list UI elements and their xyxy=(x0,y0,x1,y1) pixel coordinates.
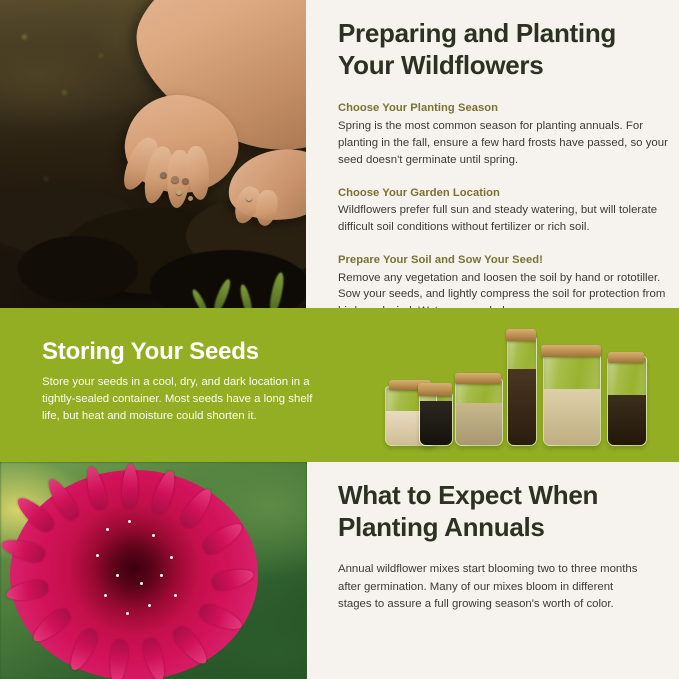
jar-contents xyxy=(544,389,600,445)
cork-stopper xyxy=(541,345,601,357)
body-planting-season: Spring is the most common season for pla… xyxy=(338,118,668,169)
jar-contents xyxy=(508,369,536,445)
what-to-expect-text-column: What to Expect When Planting Annuals Ann… xyxy=(338,462,656,679)
stamen xyxy=(152,534,155,537)
what-to-expect-title: What to Expect When Planting Annuals xyxy=(338,462,656,543)
seed xyxy=(160,172,167,178)
block-garden-location: Choose Your Garden Location Wildflowers … xyxy=(338,186,668,236)
section-preparing-and-planting: Preparing and Planting Your Wildflowers … xyxy=(0,0,679,308)
stamen xyxy=(128,520,131,523)
seed-jars-photo xyxy=(385,320,665,456)
cork-stopper xyxy=(455,373,501,384)
stamen xyxy=(104,594,107,597)
soil-planting-photo xyxy=(0,0,306,308)
stamen xyxy=(174,594,177,597)
stamen xyxy=(116,574,119,577)
stamen xyxy=(148,604,151,607)
subheading-garden-location: Choose Your Garden Location xyxy=(338,186,668,201)
jar-contents xyxy=(608,395,646,445)
stamen xyxy=(140,582,143,585)
preparing-text-column: Preparing and Planting Your Wildflowers … xyxy=(338,0,668,308)
seed xyxy=(171,176,179,183)
cork-stopper xyxy=(608,352,644,363)
stamen xyxy=(96,554,99,557)
subheading-prepare-soil: Prepare Your Soil and Sow Your Seed! xyxy=(338,253,668,268)
page-title: Preparing and Planting Your Wildflowers xyxy=(338,0,668,81)
stamen xyxy=(126,612,129,615)
stamen xyxy=(106,528,109,531)
seed-jar xyxy=(419,392,453,446)
infographic-page: Preparing and Planting Your Wildflowers … xyxy=(0,0,679,679)
stamen xyxy=(170,556,173,559)
pink-flower-photo xyxy=(0,462,307,679)
subheading-planting-season: Choose Your Planting Season xyxy=(338,101,668,116)
soil-clod xyxy=(18,236,138,302)
what-to-expect-body: Annual wildflower mixes start blooming t… xyxy=(338,561,638,612)
stamen xyxy=(160,574,163,577)
storing-seeds-title: Storing Your Seeds xyxy=(42,338,259,366)
seed-jar xyxy=(455,378,503,446)
seed-jar xyxy=(507,336,537,446)
cork-stopper xyxy=(418,383,452,396)
jar-contents xyxy=(420,401,452,445)
cork-stopper xyxy=(506,329,536,341)
section-storing-your-seeds: Storing Your Seeds Store your seeds in a… xyxy=(0,308,679,462)
seed xyxy=(182,178,189,184)
seed xyxy=(176,190,182,195)
seed-jar xyxy=(607,356,647,446)
seed-jar xyxy=(543,350,601,446)
seed xyxy=(246,196,252,201)
section-what-to-expect: What to Expect When Planting Annuals Ann… xyxy=(0,462,679,679)
storing-seeds-body: Store your seeds in a cool, dry, and dar… xyxy=(42,374,330,425)
body-garden-location: Wildflowers prefer full sun and steady w… xyxy=(338,202,668,236)
jar-contents xyxy=(456,403,502,445)
seed xyxy=(188,196,193,201)
block-planting-season: Choose Your Planting Season Spring is th… xyxy=(338,101,668,168)
